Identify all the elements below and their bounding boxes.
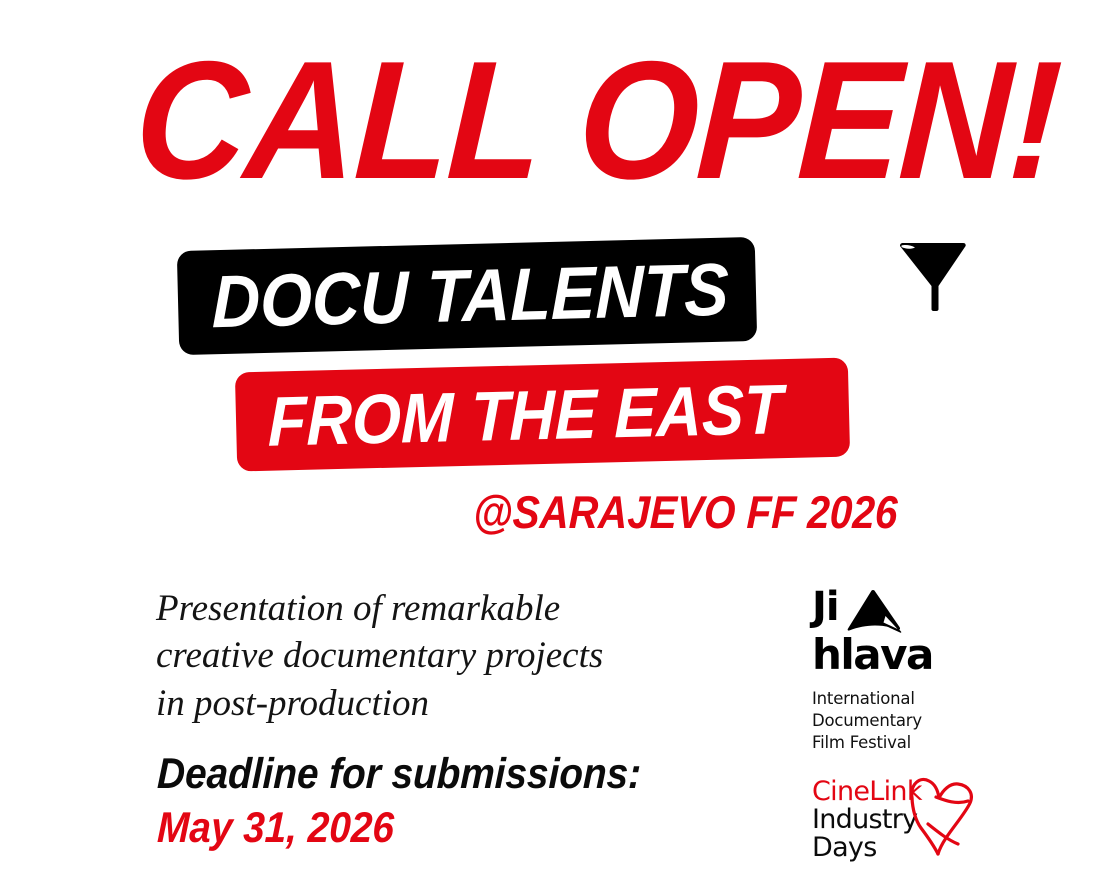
- jihlava-logo-word-hlava: hlava: [812, 634, 942, 676]
- deadline-block: Deadline for submissions: May 31, 2026: [158, 750, 696, 852]
- event-location-line: @SARAJEVO FF 2026: [473, 489, 899, 535]
- banner-docu-talents: DOCU TALENTS: [177, 237, 757, 355]
- description-line: Presentation of remarkable: [156, 585, 716, 632]
- deadline-label: Deadline for submissions:: [156, 750, 641, 798]
- banner-from-the-east-label: FROM THE EAST: [268, 374, 783, 457]
- banner-docu-talents-label: DOCU TALENTS: [212, 253, 729, 340]
- jihlava-logo-top-row: Ji: [812, 588, 942, 632]
- jihlava-logo-word-ji: Ji: [812, 588, 839, 627]
- jihlava-subtitle-line: Film Festival: [812, 732, 942, 754]
- jihlava-subtitle-line: International: [812, 688, 942, 710]
- banner-from-the-east: FROM THE EAST: [235, 358, 850, 472]
- description-line: creative documentary projects: [156, 632, 716, 679]
- jihlava-logo-subtitle: International Documentary Film Festival: [812, 688, 942, 753]
- page-title: CALL OPEN!: [132, 36, 1063, 204]
- jihlava-festival-logo: Ji hlava International Documentary Film …: [812, 588, 942, 753]
- cinelink-industry-days-logo: CineLink Industry Days: [812, 778, 977, 870]
- deadline-date: May 31, 2026: [156, 804, 641, 852]
- description-text: Presentation of remarkable creative docu…: [156, 585, 716, 727]
- jihlava-subtitle-line: Documentary: [812, 710, 942, 732]
- poster-canvas: CALL OPEN! DOCU TALENTS FROM THE EAST @S…: [0, 0, 1111, 895]
- funnel-triangle-mark: [898, 240, 968, 312]
- hand-drawn-heart-icon: [906, 772, 978, 869]
- description-line: in post-production: [156, 680, 716, 727]
